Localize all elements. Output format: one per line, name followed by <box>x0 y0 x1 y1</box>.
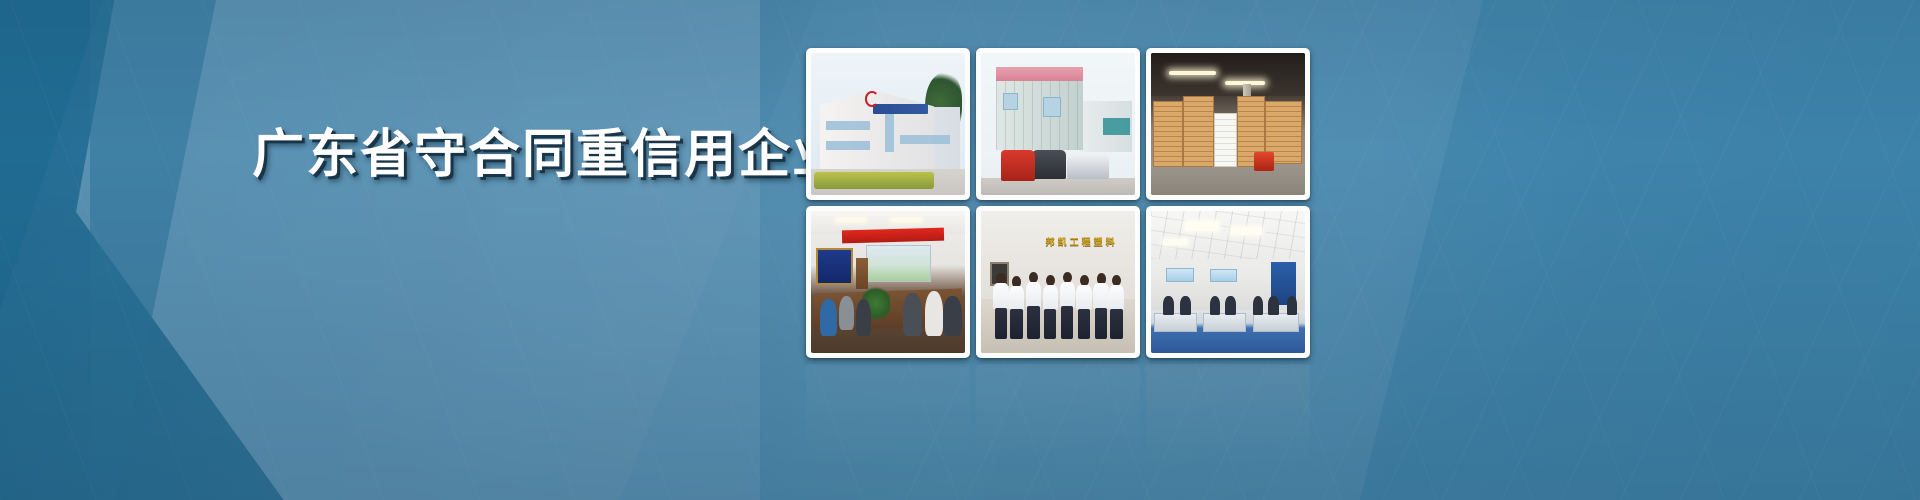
person-shirt <box>1076 285 1091 311</box>
window-strip <box>900 135 949 144</box>
cubicle-divider <box>1154 313 1197 331</box>
building-signboard <box>873 104 928 114</box>
photo-card-factory-exterior[interactable] <box>806 48 970 200</box>
attendee-shape <box>943 296 961 336</box>
person-shirt <box>993 283 1008 309</box>
projector-screen-shape <box>866 245 931 282</box>
wall-poster <box>1166 268 1194 282</box>
team-group-image: 邦凯工程塑料 <box>981 211 1135 353</box>
cubicle-divider <box>1253 313 1299 331</box>
office-worker <box>1225 296 1236 314</box>
window-strip <box>885 110 894 153</box>
person-shirt <box>1043 285 1058 311</box>
office-worker <box>1268 296 1279 314</box>
person-pants <box>995 308 1007 339</box>
wall-lettering: 邦凯工程塑料 <box>1046 235 1118 248</box>
attendee-shape <box>856 299 871 336</box>
promo-banner: 广东省守合同重信用企业 <box>0 0 1920 500</box>
ceiling-lamp <box>891 218 922 222</box>
photo-card-training-meeting[interactable] <box>806 206 970 358</box>
person-pants <box>1078 309 1090 339</box>
ceiling-tile-grid <box>1151 211 1305 259</box>
photo-card-raw-material-warehouse[interactable] <box>1146 48 1310 200</box>
person-shirt <box>1093 283 1108 309</box>
cubicle-divider <box>1203 313 1246 331</box>
wall-panel-lines <box>996 81 1082 149</box>
ceiling-lamp <box>1169 71 1215 75</box>
attendee-shape <box>903 293 921 336</box>
company-photo-grid: 邦凯工程塑料 <box>806 48 1322 358</box>
notice-board-shape <box>816 248 853 285</box>
person-pants <box>1095 308 1107 339</box>
sack-stack <box>1153 101 1184 166</box>
photo-card-office-workspace[interactable] <box>1146 206 1310 358</box>
office-worker <box>1163 296 1174 314</box>
window-shape <box>1043 97 1061 117</box>
ceiling-light-panel <box>1185 221 1219 231</box>
forklift-shape <box>1254 152 1274 170</box>
ceiling-light-panel <box>1231 227 1262 236</box>
office-worker <box>1210 296 1221 314</box>
person-shirt <box>1109 285 1124 311</box>
attendee-shape <box>925 291 943 336</box>
person-shirt <box>1060 282 1075 308</box>
person-pants <box>1110 309 1122 339</box>
white-bag-stack <box>1214 113 1237 167</box>
ceiling-light-panel <box>1163 239 1188 245</box>
company-logo-mark <box>865 91 879 107</box>
white-car-shape <box>1067 154 1109 180</box>
person-shirt <box>1009 286 1024 310</box>
window-strip <box>826 121 869 130</box>
attendee-shape <box>820 299 837 336</box>
attendee-shape <box>839 296 854 330</box>
factory-exterior-image <box>811 53 965 195</box>
office-worker <box>1287 296 1298 314</box>
sack-stack <box>1183 96 1214 167</box>
warehouse-image <box>1151 53 1305 195</box>
workshop-building-image <box>981 53 1135 195</box>
red-truck-shape <box>1001 150 1035 181</box>
hedge-shape <box>814 172 934 189</box>
black-van-shape <box>1032 150 1066 180</box>
window-shape <box>1003 93 1018 110</box>
office-workspace-image <box>1151 211 1305 353</box>
office-worker <box>1253 296 1264 314</box>
person-pants <box>1027 306 1039 339</box>
photo-card-team-group[interactable]: 邦凯工程塑料 <box>976 206 1140 358</box>
teal-structure-shape <box>1103 118 1131 135</box>
person-pants <box>1010 309 1022 339</box>
wall-poster <box>1210 269 1238 282</box>
person-pants <box>1044 309 1056 339</box>
window-strip <box>826 141 869 150</box>
ceiling-lamp <box>836 218 867 222</box>
warehouse-floor-shape <box>1151 164 1305 195</box>
banner-headline: 广东省守合同重信用企业 <box>252 124 846 186</box>
red-banner-shape <box>842 228 944 243</box>
photo-card-workshop-building[interactable] <box>976 48 1140 200</box>
office-worker <box>1180 296 1191 314</box>
meeting-room-image <box>811 211 965 353</box>
person-pants <box>1061 306 1073 339</box>
person-shirt <box>1026 282 1041 308</box>
